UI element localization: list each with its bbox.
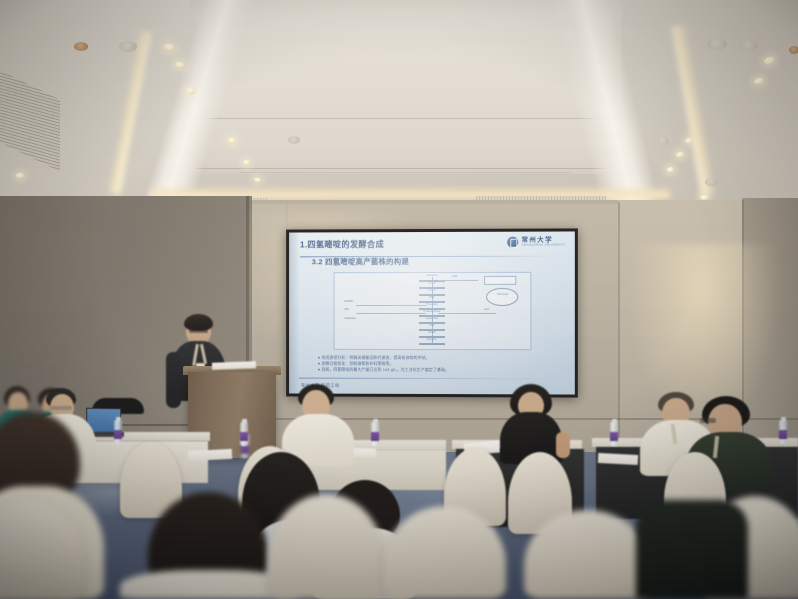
sprinkler-head: [74, 42, 88, 51]
recessed-downlight: [16, 173, 24, 178]
pathway-node-label: Pyruvate: [426, 303, 437, 306]
wall-light-pool: [628, 244, 780, 430]
water-bottle[interactable]: [114, 420, 122, 444]
ceiling-speaker: [705, 178, 718, 186]
water-bottle[interactable]: [240, 422, 248, 446]
water-bottle[interactable]: [610, 422, 618, 446]
pathway-arm: [356, 313, 426, 314]
attendee-glasses: [700, 418, 716, 423]
pathway-node-label: G-6-P: [428, 282, 436, 285]
bottle-label: [779, 430, 787, 439]
presenter-glasses: [189, 330, 208, 333]
pathway-node-label: Glucose: [427, 274, 438, 277]
pathway-node: [419, 343, 445, 345]
university-name-en: CHANGZHOU UNIVERSITY: [522, 244, 566, 247]
pathway-node-label: PEP: [429, 296, 435, 299]
pathway-side-label: ectB: [452, 275, 457, 278]
pathway-arm: [438, 313, 496, 314]
screen-edge-shading: [289, 232, 300, 393]
slide-bullet: ● 目前，四氢嘧啶的最大产量已达到 144 g/L，为工业化生产奠定了基础。: [318, 367, 566, 374]
bottle-cap: [612, 419, 617, 423]
water-bottle[interactable]: [371, 422, 379, 446]
bottle-label: [240, 432, 248, 441]
coffer-reveal-right: [518, 0, 698, 210]
pathway-box: [484, 276, 516, 285]
slide-section-heading: 3.2 四氢嘧啶高产菌株的构建: [312, 256, 566, 268]
pathway-side-label: Glutamate: [344, 317, 355, 320]
university-logo: 常州大学 CHANGZHOU UNIVERSITY: [507, 237, 565, 248]
pathway-node-label: ASA: [429, 324, 435, 327]
conference-room-photo: 1.四氢嘧啶的发酵合成 常州大学 CHANGZHOU UNIVERSITY 3.…: [0, 0, 798, 599]
projection-surface: 1.四氢嘧啶的发酵合成 常州大学 CHANGZHOU UNIVERSITY 3.…: [289, 231, 575, 394]
coffer-reveal-left: [120, 0, 270, 200]
slide-footer-rule: [299, 378, 567, 380]
bottle-cap: [242, 419, 247, 423]
slide-title: 1.四氢嘧啶的发酵合成: [300, 238, 384, 251]
ceiling-speaker: [707, 38, 727, 50]
pathway-node-label: Ectoine: [427, 338, 437, 341]
attendee-arm: [556, 432, 570, 458]
ceiling-speaker: [657, 137, 669, 145]
pathway-side-label: ectC: [484, 308, 489, 311]
ceiling-speaker: [119, 41, 137, 52]
ceiling-speaker: [288, 136, 300, 144]
bottle-label: [371, 432, 379, 441]
bottle-label: [241, 445, 249, 454]
pathway-node-label: F-6-P: [428, 289, 435, 292]
pathway-node-label: DABA: [428, 331, 436, 334]
pathway-side-label: NADPH: [344, 300, 353, 303]
pathway-arm: [438, 280, 478, 281]
bottle-cap: [116, 417, 121, 421]
tca-cycle-label: TCA cycle: [497, 293, 508, 296]
bottle-label: [114, 430, 122, 439]
bottle-label: [610, 432, 618, 441]
wall-panel-seam: [618, 202, 620, 460]
pathway-diagram: Glucose G-6-P F-6-P PEP Pyruvate Oxaloac…: [334, 272, 532, 350]
presentation-slide: 1.四氢嘧啶的发酵合成 常州大学 CHANGZHOU UNIVERSITY 3.…: [289, 231, 575, 394]
water-bottle[interactable]: [779, 420, 787, 444]
bottle-cap: [781, 417, 786, 421]
presenter-hair: [184, 314, 213, 331]
sprinkler-head: [789, 46, 798, 54]
attendee-glasses: [50, 406, 72, 410]
pathway-side-label: ATP: [344, 308, 349, 311]
slide-header: 1.四氢嘧啶的发酵合成 常州大学 CHANGZHOU UNIVERSITY: [300, 238, 566, 251]
university-crest-icon: [507, 237, 518, 248]
projection-screen[interactable]: 1.四氢嘧啶的发酵合成 常州大学 CHANGZHOU UNIVERSITY 3.…: [286, 228, 578, 397]
presenter-arm: [166, 352, 181, 408]
pathway-arm: [356, 305, 426, 306]
tca-cycle-loop: [486, 288, 518, 306]
printed-handout: [598, 453, 638, 465]
bullet-text: ● 目前，四氢嘧啶的最大产量已达到 144 g/L，为工业化生产奠定了基础。: [318, 367, 449, 373]
ceiling: [0, 0, 798, 215]
slide-bullet-list: ● 合成途径分析：明确关键基因和代谢流，提高前体物的供给。 ● 发酵过程优化：控…: [318, 355, 566, 374]
pathway-node-label: Aspartate: [426, 317, 439, 320]
bottle-cap: [373, 419, 378, 423]
attendee-body: [636, 500, 748, 599]
ceiling-speaker: [740, 40, 758, 51]
